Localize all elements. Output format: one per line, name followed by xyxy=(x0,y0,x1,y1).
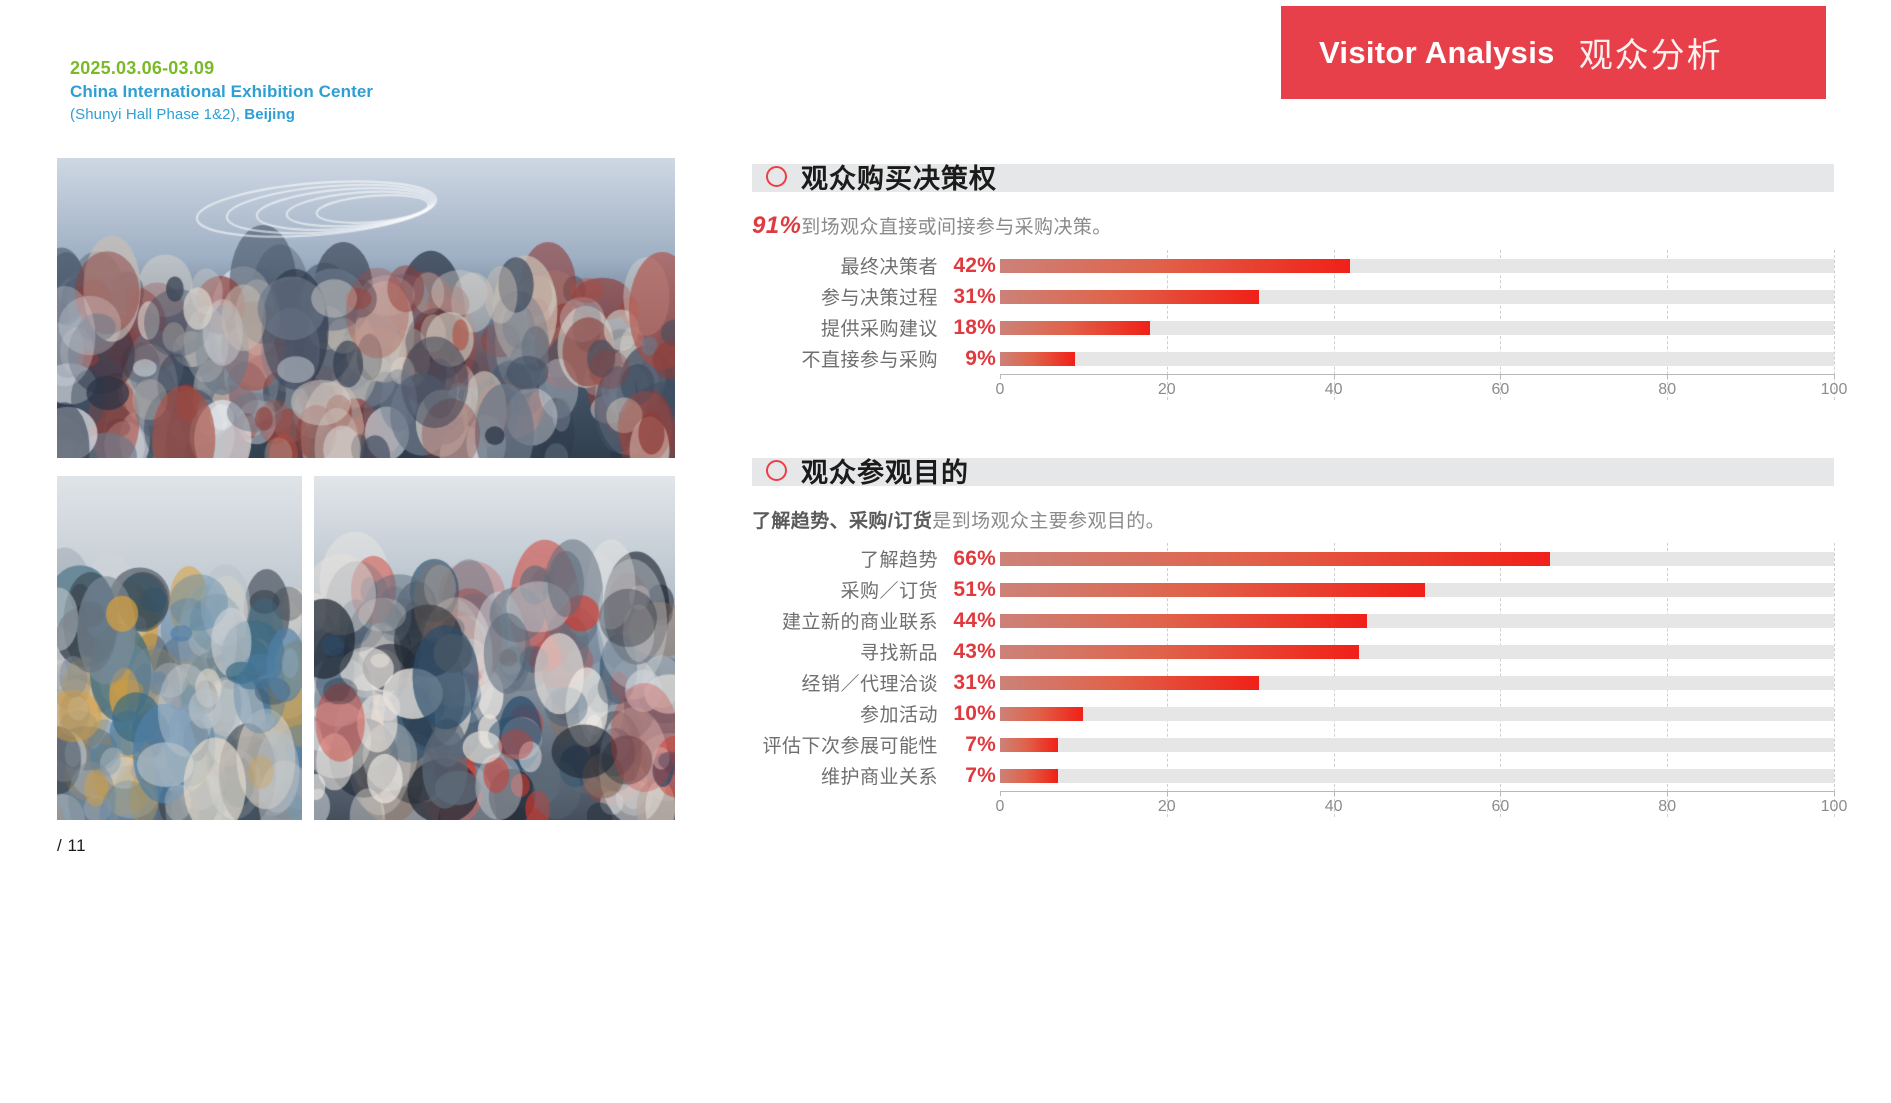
chart-bar xyxy=(1000,321,1150,335)
chart-category-label: 最终决策者 xyxy=(752,252,938,279)
chart-row: 提供采购建议18% xyxy=(752,312,1834,343)
axis-tick-label: 60 xyxy=(1491,798,1509,816)
chart-row: 不直接参与采购9% xyxy=(752,343,1834,374)
chart-bar-track xyxy=(1000,676,1834,690)
chart-value-label: 66% xyxy=(938,547,1000,571)
chart-bar-track xyxy=(1000,321,1834,335)
axis-tick-label: 20 xyxy=(1158,381,1176,399)
chart-category-label: 采购／订货 xyxy=(752,576,938,603)
axis-tick xyxy=(1167,791,1168,796)
axis-tick xyxy=(1334,791,1335,796)
chart-row: 建立新的商业联系44% xyxy=(752,605,1834,636)
section-header-1: 观众购买决策权 xyxy=(752,158,1834,194)
gridline xyxy=(1834,543,1835,817)
event-city: Beijing xyxy=(244,106,295,123)
chart-bar-track xyxy=(1000,290,1834,304)
chart-bar xyxy=(1000,583,1425,597)
axis-tick xyxy=(1834,791,1835,796)
event-venue: China International Exhibition Center xyxy=(70,81,373,104)
axis-tick-label: 20 xyxy=(1158,798,1176,816)
chart-row: 采购／订货51% xyxy=(752,574,1834,605)
slide-page: 2025.03.06-03.09 China International Exh… xyxy=(0,0,1891,1103)
chart-value-label: 7% xyxy=(938,764,1000,788)
chart-category-label: 维护商业关系 xyxy=(752,762,938,789)
chart-row: 评估下次参展可能性7% xyxy=(752,729,1834,760)
chart-bar-track xyxy=(1000,645,1834,659)
stat-91-percent: 91% xyxy=(752,212,801,239)
chart-value-label: 42% xyxy=(938,254,1000,278)
chart-bar-track xyxy=(1000,769,1834,783)
axis-tick-label: 60 xyxy=(1491,381,1509,399)
axis-tick xyxy=(1334,374,1335,379)
axis-line xyxy=(1000,791,1834,792)
chart-value-label: 43% xyxy=(938,640,1000,664)
axis-tick xyxy=(1167,374,1168,379)
chart-bar xyxy=(1000,552,1550,566)
event-info: 2025.03.06-03.09 China International Exh… xyxy=(70,56,373,125)
axis-tick xyxy=(1667,374,1668,379)
event-venue-hall: (Shunyi Hall Phase 1&2), xyxy=(70,106,244,123)
axis-tick xyxy=(1667,791,1668,796)
chart-x-axis: 020406080100 xyxy=(1000,791,1834,817)
chart-category-label: 寻找新品 xyxy=(752,638,938,665)
chart-row: 寻找新品43% xyxy=(752,636,1834,667)
banner-title-en: Visitor Analysis xyxy=(1319,35,1555,71)
chart-value-label: 44% xyxy=(938,609,1000,633)
chart-category-label: 参与决策过程 xyxy=(752,283,938,310)
section-subtitle-2-rest: 是到场观众主要参观目的。 xyxy=(932,511,1165,532)
chart-row: 最终决策者42% xyxy=(752,250,1834,281)
axis-tick xyxy=(1500,374,1501,379)
axis-tick-label: 40 xyxy=(1325,381,1343,399)
axis-tick-label: 100 xyxy=(1821,381,1848,399)
chart-bar xyxy=(1000,769,1058,783)
chart-value-label: 7% xyxy=(938,733,1000,757)
photo-exhibition-hall-crowd xyxy=(57,158,675,458)
chart-category-label: 评估下次参展可能性 xyxy=(752,731,938,758)
chart-visit-purpose: 了解趋势66%采购／订货51%建立新的商业联系44%寻找新品43%经销／代理洽谈… xyxy=(752,543,1834,817)
circle-outline-icon xyxy=(766,460,787,481)
chart-x-axis: 020406080100 xyxy=(1000,374,1834,400)
axis-tick-label: 0 xyxy=(996,381,1005,399)
chart-value-label: 10% xyxy=(938,702,1000,726)
chart-bar xyxy=(1000,707,1083,721)
chart-bar-track xyxy=(1000,583,1834,597)
chart-row: 参与决策过程31% xyxy=(752,281,1834,312)
chart-bar-track xyxy=(1000,259,1834,273)
axis-tick-label: 80 xyxy=(1658,798,1676,816)
section-banner: Visitor Analysis 观众分析 xyxy=(1281,6,1826,99)
chart-category-label: 建立新的商业联系 xyxy=(752,607,938,634)
chart-purchase-decision-power: 最终决策者42%参与决策过程31%提供采购建议18%不直接参与采购9%02040… xyxy=(752,250,1834,400)
axis-tick xyxy=(1500,791,1501,796)
chart-row: 维护商业关系7% xyxy=(752,760,1834,791)
event-venue-sub: (Shunyi Hall Phase 1&2), Beijing xyxy=(70,105,373,125)
chart-bar-track xyxy=(1000,614,1834,628)
chart-bar-track xyxy=(1000,738,1834,752)
chart-bar xyxy=(1000,614,1367,628)
axis-tick xyxy=(1834,374,1835,379)
chart-bar-track xyxy=(1000,552,1834,566)
analysis-content: 观众购买决策权 91%到场观众直接或间接参与采购决策。 最终决策者42%参与决策… xyxy=(752,158,1834,817)
subtitle-emphasis: 了解趋势、采购/订货 xyxy=(752,511,932,532)
section-header-2: 观众参观目的 xyxy=(752,452,1834,488)
chart-bar xyxy=(1000,738,1058,752)
chart-bar xyxy=(1000,259,1350,273)
chart-bar-track xyxy=(1000,707,1834,721)
section-subtitle-1: 91%到场观众直接或间接参与采购决策。 xyxy=(752,212,1834,240)
chart-value-label: 18% xyxy=(938,316,1000,340)
photo-two-men-with-tablet xyxy=(314,476,675,820)
chart-bar xyxy=(1000,645,1359,659)
chart-row: 参加活动10% xyxy=(752,698,1834,729)
chart-category-label: 经销／代理洽谈 xyxy=(752,669,938,696)
section-title-1: 观众购买决策权 xyxy=(801,157,997,196)
axis-tick-label: 40 xyxy=(1325,798,1343,816)
section-title-2: 观众参观目的 xyxy=(801,451,969,490)
chart-bar xyxy=(1000,290,1259,304)
section-subtitle-1-rest: 到场观众直接或间接参与采购决策。 xyxy=(801,217,1111,238)
chart-bar-track xyxy=(1000,352,1834,366)
circle-outline-icon xyxy=(766,166,787,187)
axis-tick xyxy=(1000,374,1001,379)
page-number: / 11 xyxy=(57,836,86,856)
chart-value-label: 51% xyxy=(938,578,1000,602)
banner-title-cn: 观众分析 xyxy=(1579,28,1723,77)
axis-tick-label: 100 xyxy=(1821,798,1848,816)
section-subtitle-2: 了解趋势、采购/订货是到场观众主要参观目的。 xyxy=(752,506,1834,533)
chart-bar xyxy=(1000,352,1075,366)
axis-tick xyxy=(1000,791,1001,796)
chart-category-label: 了解趋势 xyxy=(752,545,938,572)
chart-value-label: 31% xyxy=(938,285,1000,309)
event-dates: 2025.03.06-03.09 xyxy=(70,56,373,80)
chart-row: 了解趋势66% xyxy=(752,543,1834,574)
chart-category-label: 不直接参与采购 xyxy=(752,345,938,372)
chart-value-label: 31% xyxy=(938,671,1000,695)
chart-bar xyxy=(1000,676,1259,690)
photo-visitors-at-booth xyxy=(57,476,302,820)
axis-tick-label: 80 xyxy=(1658,381,1676,399)
axis-line xyxy=(1000,374,1834,375)
axis-tick-label: 0 xyxy=(996,798,1005,816)
chart-value-label: 9% xyxy=(938,347,1000,371)
chart-row: 经销／代理洽谈31% xyxy=(752,667,1834,698)
chart-category-label: 参加活动 xyxy=(752,700,938,727)
chart-category-label: 提供采购建议 xyxy=(752,314,938,341)
